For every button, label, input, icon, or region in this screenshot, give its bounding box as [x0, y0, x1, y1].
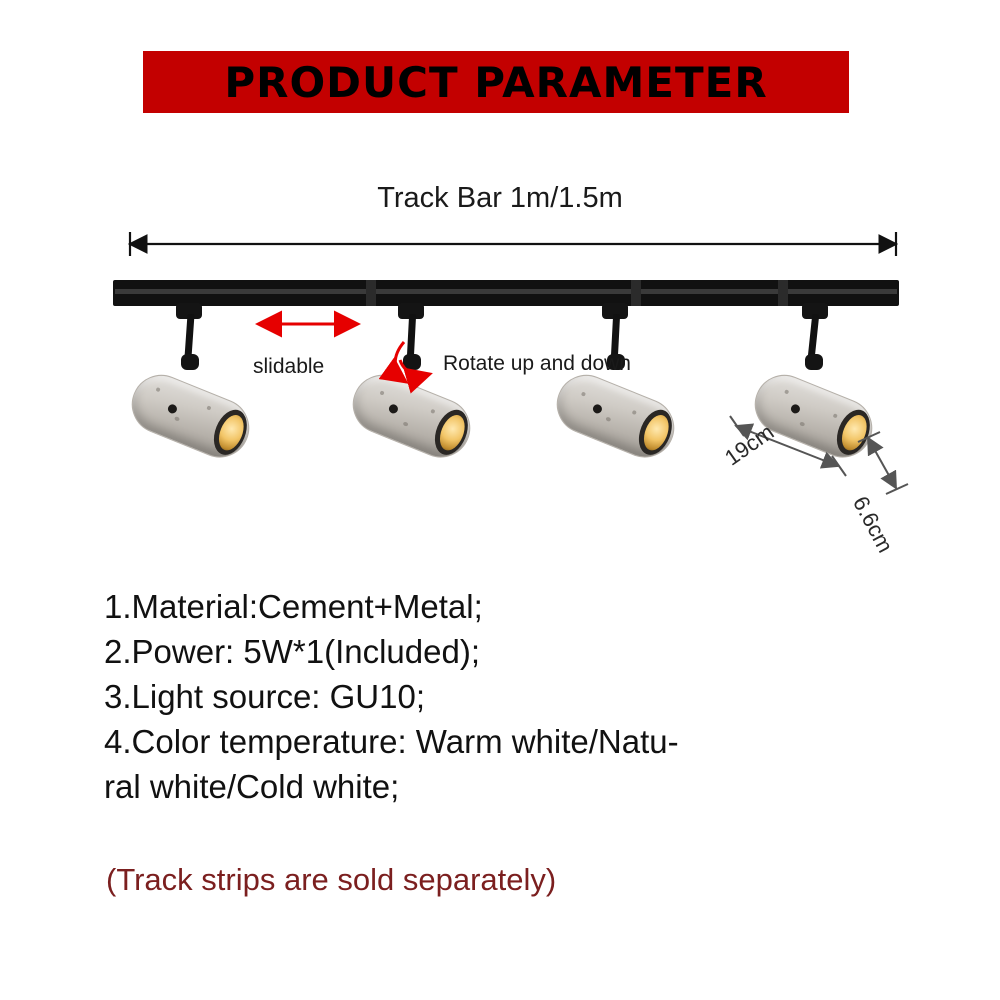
lamp-joint	[403, 354, 421, 370]
header-banner: PRODUCT PARAMETER	[143, 51, 849, 113]
lamp-texture-speck	[174, 416, 180, 422]
lamp-stem	[407, 314, 416, 358]
slidable-label: slidable	[253, 355, 324, 379]
lamp-texture-speck	[206, 405, 211, 410]
product-diagram: Track Bar 1m/1.5m	[0, 120, 1000, 560]
lamp-texture-speck	[833, 413, 838, 418]
lamp-texture-speck	[379, 390, 384, 395]
track-bar-caption: Track Bar 1m/1.5m	[0, 182, 1000, 215]
track-length-dimension	[130, 232, 896, 256]
lamp-joint	[181, 354, 199, 370]
lamp-body	[746, 366, 881, 466]
lamp-texture-speck	[799, 421, 805, 427]
sold-separately-note: (Track strips are sold separately)	[106, 862, 556, 898]
lamp-stem	[184, 314, 194, 358]
lamp-screw-dot	[167, 403, 179, 415]
lamp-texture-speck	[155, 387, 160, 392]
spec-item-power: 2.Power: 5W*1(Included);	[104, 630, 964, 675]
lamp-texture-speck	[784, 389, 789, 394]
lamp-body	[548, 366, 683, 466]
lamp-texture-speck	[605, 416, 611, 422]
lamp-stem	[808, 314, 820, 358]
lamp-texture-speck	[430, 409, 435, 414]
rail-notch	[778, 280, 788, 306]
length-label: 19cm	[720, 419, 779, 471]
rail-notch	[366, 280, 376, 306]
track-rail	[113, 280, 899, 306]
spec-item-light-source: 3.Light source: GU10;	[104, 675, 964, 720]
lamp-screw-dot	[592, 403, 604, 415]
lamp-texture-speck	[581, 391, 586, 396]
lamp-screw-dot	[388, 403, 400, 415]
lamp-texture-speck	[632, 410, 637, 415]
lamp-screw-dot	[790, 403, 802, 415]
rail-notch	[631, 280, 641, 306]
diameter-label: 6.6cm	[847, 492, 898, 557]
spec-item-material: 1.Material:Cement+Metal;	[104, 585, 964, 630]
lamp-body	[344, 366, 479, 466]
spec-item-color-temperature-cont: ral white/Cold white;	[104, 765, 964, 810]
rotate-label: Rotate up and down	[443, 352, 631, 376]
specification-list: 1.Material:Cement+Metal; 2.Power: 5W*1(I…	[104, 585, 964, 809]
spec-item-color-temperature: 4.Color temperature: Warm white/Natu-	[104, 720, 964, 765]
lamp-texture-speck	[403, 421, 409, 427]
page-title: PRODUCT PARAMETER	[224, 58, 767, 107]
lamp-body	[123, 366, 258, 466]
lamp-joint	[805, 354, 823, 370]
